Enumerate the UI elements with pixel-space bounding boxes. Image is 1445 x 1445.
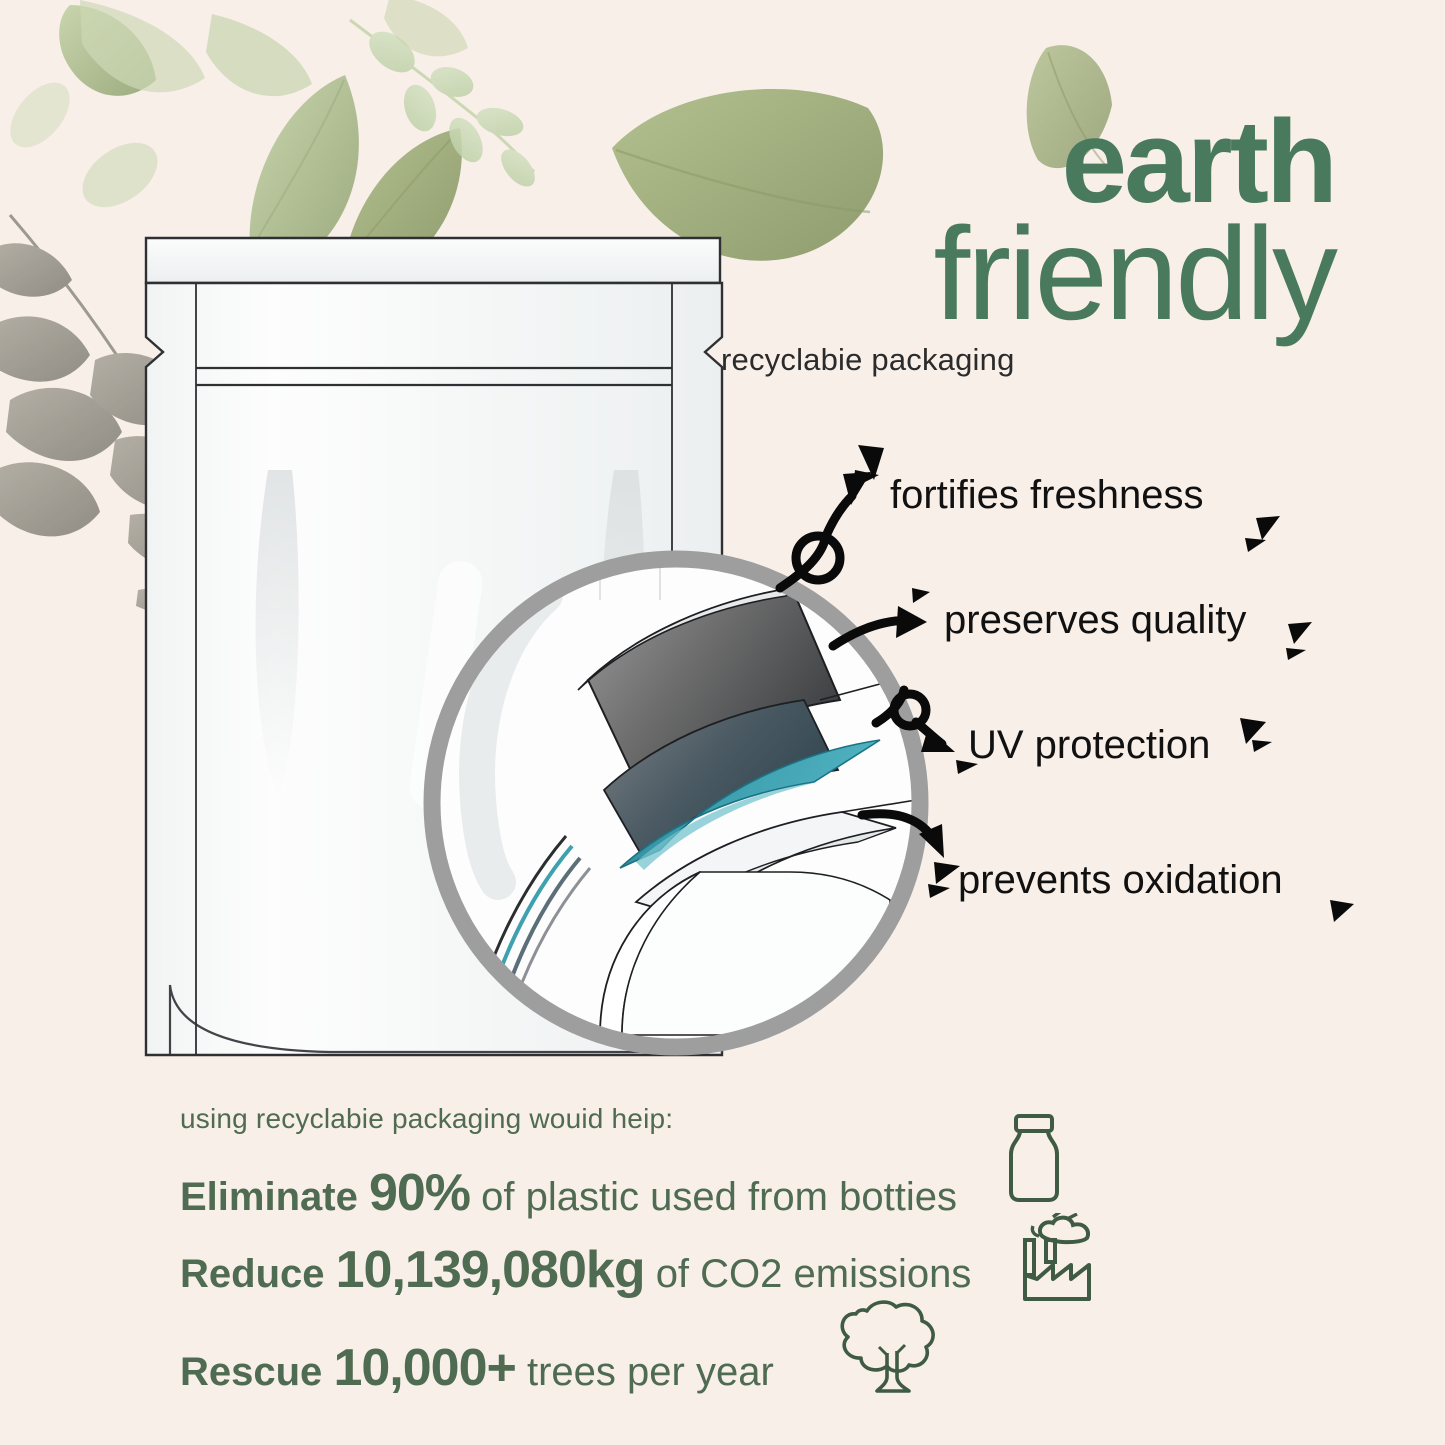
stat-verb: Rescue [180,1350,322,1394]
stat-rest: of plastic used from botties [481,1175,957,1219]
stat-row-reduce: Reduce 10,139,080kg of CO2 emissions [180,1240,971,1300]
stats-intro-text: using recyclabie packaging wouid heip: [180,1103,673,1135]
bottle-icon [995,1112,1073,1204]
factory-icon [1005,1213,1101,1307]
stat-verb: Reduce [180,1252,325,1296]
infographic-canvas: earth friendly recyclabie packaging fort… [0,0,1445,1445]
stat-rest: trees per year [527,1350,774,1394]
arrowhead-2 [896,606,927,638]
stat-row-eliminate: Eliminate 90% of plastic used from botti… [180,1163,957,1223]
tree-icon [823,1295,941,1403]
feature-label-uv-protection: UV protection [968,723,1210,768]
headline-line-2: friendly [715,211,1335,336]
feature-label-preserves-quality: preserves quality [944,598,1246,643]
stat-value: 10,000+ [333,1339,515,1397]
headline-block: earth friendly recyclabie packaging [715,108,1335,378]
stat-rest: of CO2 emissions [656,1252,972,1296]
headline-subtitle: recyclabie packaging [715,342,1335,378]
stat-value: 10,139,080kg [336,1241,645,1299]
stat-value: 90% [369,1164,470,1222]
stat-row-rescue: Rescue 10,000+ trees per year [180,1338,774,1398]
feature-label-prevents-oxidation: prevents oxidation [958,858,1283,903]
feature-label-fortifies-freshness: fortifies freshness [890,473,1203,518]
stat-verb: Eliminate [180,1175,358,1219]
